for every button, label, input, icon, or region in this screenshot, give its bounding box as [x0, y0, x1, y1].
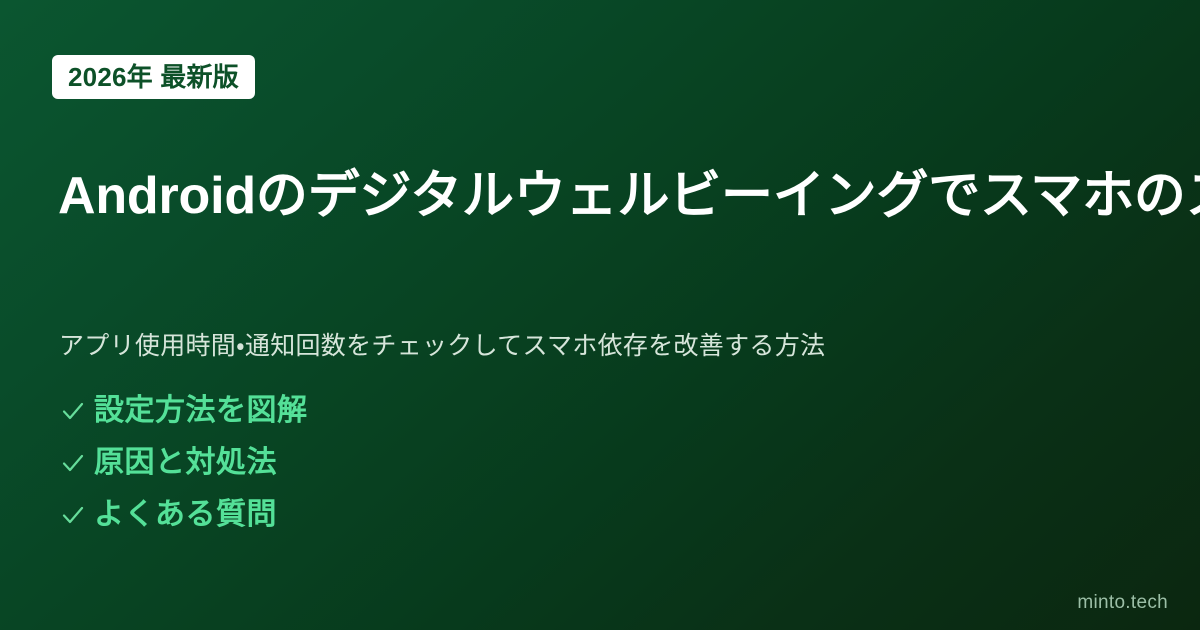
list-item: よくある質問 — [60, 489, 308, 541]
year-badge: 2026年 最新版 — [52, 55, 255, 99]
list-item: 原因と対処法 — [60, 437, 308, 489]
list-item-label: よくある質問 — [94, 500, 277, 530]
check-icon — [60, 398, 94, 424]
year-badge-label: 2026年 最新版 — [68, 64, 239, 90]
list-item: 設定方法を図解 — [60, 385, 308, 437]
page-subtitle: アプリ使用時間・通知回数をチェックしてスマホ依存を改善する方法 — [59, 328, 825, 366]
ogp-card: 2026年 最新版 Androidのデジタルウェルビーイングでスマホのスクリーン… — [0, 0, 1200, 630]
page-title: Androidのデジタルウェルビーイングでスマホのスクリーンタイムを管理する方法 — [58, 163, 1200, 230]
feature-checklist: 設定方法を図解 原因と対処法 よくある質問 — [60, 385, 308, 541]
check-icon — [60, 502, 94, 528]
list-item-label: 設定方法を図解 — [94, 396, 308, 426]
list-item-label: 原因と対処法 — [94, 448, 277, 478]
site-watermark: minto.tech — [1077, 593, 1168, 612]
check-icon — [60, 450, 94, 476]
